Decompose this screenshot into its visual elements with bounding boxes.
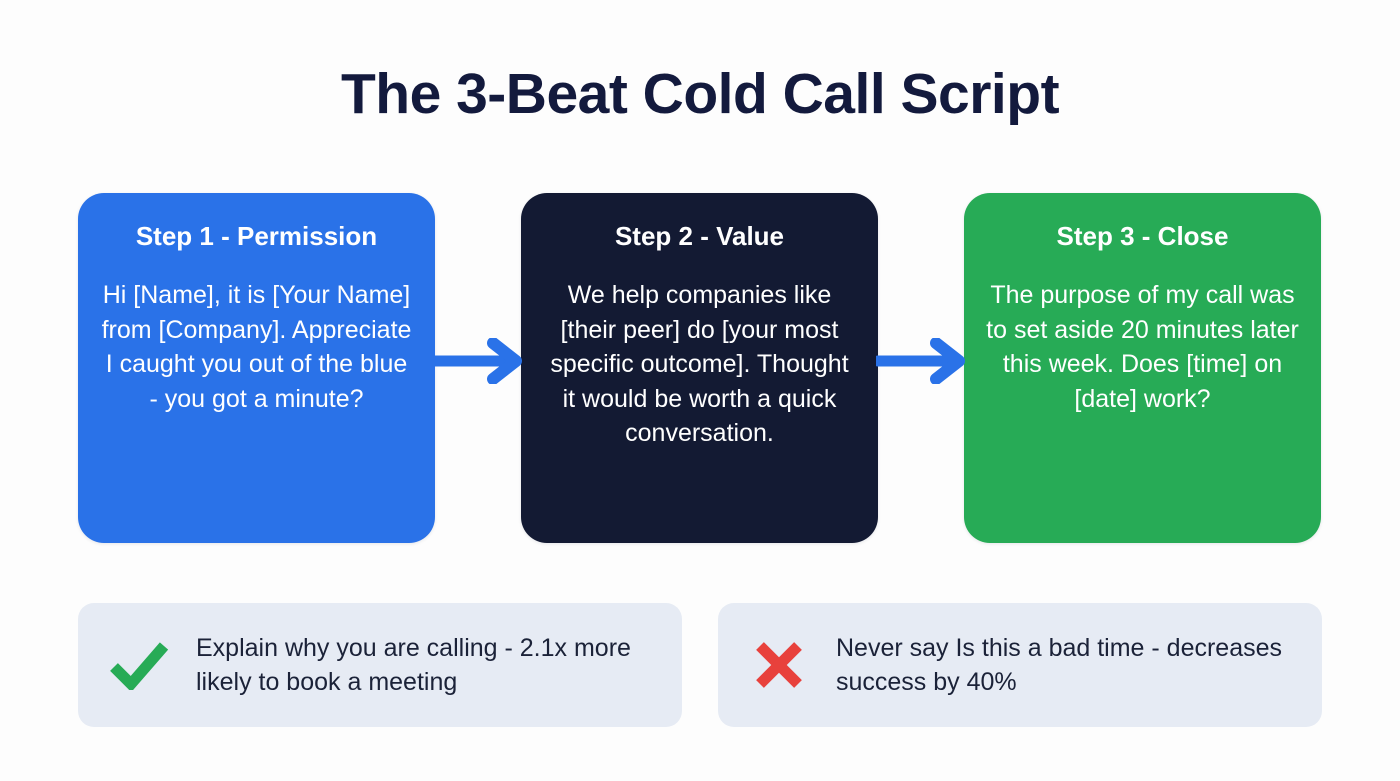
cross-icon xyxy=(748,637,810,693)
arrow-right-icon xyxy=(876,338,966,384)
steps-row: Step 1 - Permission Hi [Name], it is [Yo… xyxy=(78,193,1322,543)
step-card-2: Step 2 - Value We help companies like [t… xyxy=(521,193,878,543)
step-card-3: Step 3 - Close The purpose of my call wa… xyxy=(964,193,1321,543)
page-title: The 3-Beat Cold Call Script xyxy=(0,62,1400,128)
callout-do-text: Explain why you are calling - 2.1x more … xyxy=(196,631,656,700)
step-card-3-title: Step 3 - Close xyxy=(986,221,1299,252)
infographic-canvas: The 3-Beat Cold Call Script Step 1 - Per… xyxy=(0,0,1400,781)
callouts-row: Explain why you are calling - 2.1x more … xyxy=(78,603,1322,727)
arrow-right-icon xyxy=(433,338,523,384)
step-card-2-body: We help companies like [their peer] do [… xyxy=(543,278,856,451)
step-card-1-title: Step 1 - Permission xyxy=(100,221,413,252)
step-card-3-body: The purpose of my call was to set aside … xyxy=(986,278,1299,416)
callout-dont-text: Never say Is this a bad time - decreases… xyxy=(836,631,1296,700)
step-card-1-body: Hi [Name], it is [Your Name] from [Compa… xyxy=(100,278,413,416)
step-card-1: Step 1 - Permission Hi [Name], it is [Yo… xyxy=(78,193,435,543)
step-card-2-title: Step 2 - Value xyxy=(543,221,856,252)
callout-do: Explain why you are calling - 2.1x more … xyxy=(78,603,682,727)
callout-dont: Never say Is this a bad time - decreases… xyxy=(718,603,1322,727)
check-icon xyxy=(108,637,170,693)
